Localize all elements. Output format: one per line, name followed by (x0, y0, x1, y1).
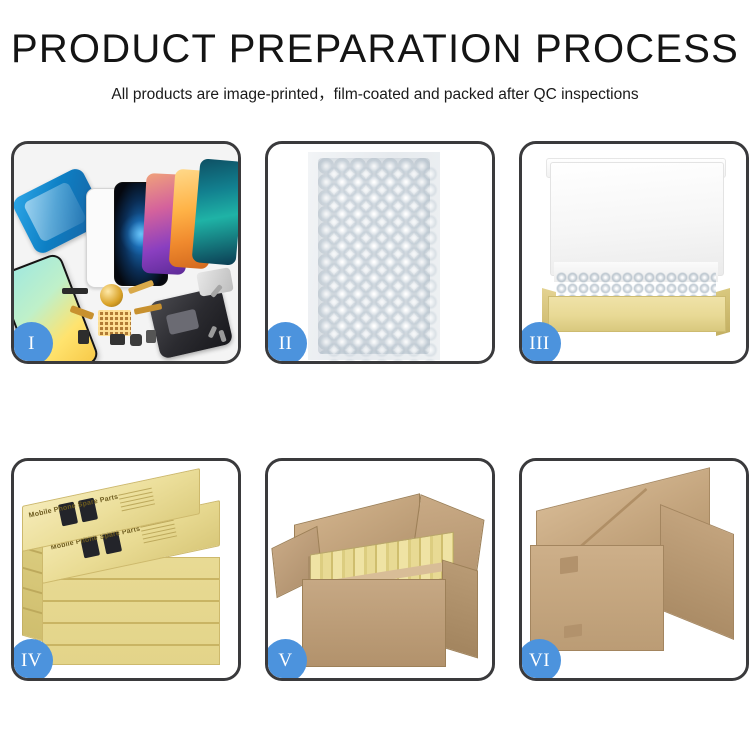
carton-front-face (302, 579, 446, 667)
step-badge-6: VI (519, 639, 561, 681)
sealed-carton-front (530, 545, 664, 651)
step-badge-5: V (265, 639, 307, 681)
phone-back-housing (148, 286, 233, 359)
process-steps-grid: I II III (11, 141, 739, 681)
connector-bar (62, 288, 88, 294)
small-part-3 (130, 334, 142, 346)
phone-teal-gradient (192, 158, 238, 265)
step-panel-4: Mobile Phone Spare Parts Mobile Phone Sp… (11, 458, 241, 681)
small-part-1 (78, 330, 89, 344)
product-preparation-process-page: PRODUCT PREPARATION PROCESS All products… (0, 0, 750, 750)
inner-box-lid (550, 162, 724, 276)
sealed-carton-tab-1 (560, 556, 578, 575)
step-badge-3: III (519, 322, 561, 364)
inner-box-front (548, 296, 726, 332)
step-panel-2: II (265, 141, 495, 364)
page-title: PRODUCT PREPARATION PROCESS (0, 28, 750, 70)
step-panel-1: I (11, 141, 241, 364)
step-panel-3: III (519, 141, 749, 364)
sealed-carton-right-side (660, 504, 734, 640)
vibration-motor-part (100, 284, 123, 307)
small-part-2 (110, 334, 125, 345)
step-badge-1: I (11, 322, 53, 364)
step-badge-2: II (265, 322, 307, 364)
step-panel-6: VI (519, 458, 749, 681)
bubble-wrap-bubbles-overlay (326, 166, 438, 361)
sealed-carton-tab-2 (564, 624, 582, 639)
small-part-4 (146, 330, 156, 343)
carton-right-side (442, 559, 478, 658)
step-badge-4: IV (11, 639, 53, 681)
ic-chip-array (98, 310, 131, 336)
step-panel-5: V (265, 458, 495, 681)
page-subtitle: All products are image-printed，film-coat… (0, 82, 750, 104)
page-header: PRODUCT PREPARATION PROCESS All products… (0, 0, 750, 104)
